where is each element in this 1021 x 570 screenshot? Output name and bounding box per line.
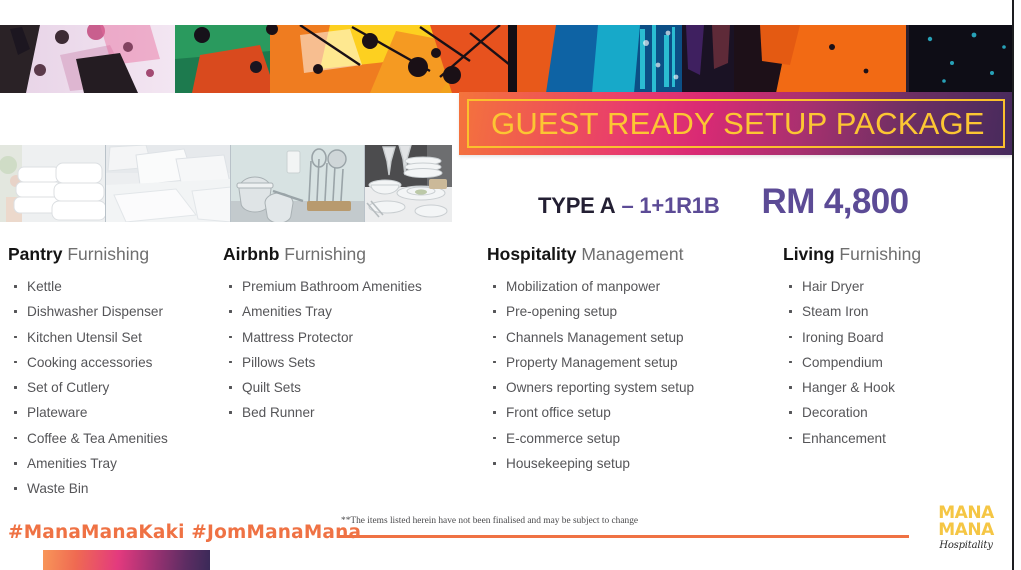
list-item: Owners reporting system setup [487,375,779,400]
package-title-text: GUEST READY SETUP PACKAGE [469,106,985,142]
list-item: Channels Management setup [487,325,779,350]
unit-type-code: – 1+1R1B [621,193,719,219]
list-item: Pre-opening setup [487,299,779,324]
column-pantry-furnishing: Pantry Furnishing Kettle Dishwasher Disp… [8,243,223,502]
list-item: Mattress Protector [223,325,485,350]
column-hospitality-management: Hospitality Management Mobilization of m… [487,243,779,476]
logo-tagline: Hospitality [925,540,1007,551]
list-item: Front office setup [487,400,779,425]
column-heading-light: Furnishing [839,244,921,264]
list-item: Bed Runner [223,400,485,425]
list-item: Dishwasher Dispenser [8,299,223,324]
column-heading: Living Furnishing [783,243,1013,265]
list-item: Hair Dryer [783,274,1013,299]
list-item: Set of Cutlery [8,375,223,400]
photo-towels [0,145,106,222]
right-margin-fill [1014,0,1021,570]
column-airbnb-furnishing: Airbnb Furnishing Premium Bathroom Ameni… [223,243,485,426]
logo-line-2: MANA [925,522,1007,539]
column-heading: Airbnb Furnishing [223,243,485,265]
column-living-furnishing: Living Furnishing Hair Dryer Steam Iron … [783,243,1013,451]
list-item: Premium Bathroom Amenities [223,274,485,299]
brand-gradient-bar [43,550,210,570]
list-item: Property Management setup [487,350,779,375]
package-title-frame: GUEST READY SETUP PACKAGE [467,99,1005,148]
list-item: E-commerce setup [487,426,779,451]
list-item: Kitchen Utensil Set [8,325,223,350]
photo-plateware [365,145,452,222]
column-heading: Pantry Furnishing [8,243,223,265]
photo-kitchen-utensils [231,145,364,222]
column-heading-light: Furnishing [67,244,149,264]
column-heading: Hospitality Management [487,243,779,265]
feature-list-pantry: Kettle Dishwasher Dispenser Kitchen Uten… [8,274,223,502]
list-item: Compendium [783,350,1013,375]
list-item: Pillows Sets [223,350,485,375]
column-heading-bold: Living [783,244,835,264]
list-item: Waste Bin [8,476,223,501]
social-hashtags: #ManaManaKaki #JomManaMana [8,522,361,543]
feature-columns: Pantry Furnishing Kettle Dishwasher Disp… [0,243,1013,505]
slide-canvas: GUEST READY SETUP PACKAGE TYPE A – 1+1R1… [0,0,1021,570]
column-heading-bold: Pantry [8,244,62,264]
list-item: Steam Iron [783,299,1013,324]
manamana-logo: MANA MANA Hospitality [925,505,1007,561]
footer-divider-rule [337,535,909,538]
photo-bedding [106,145,231,222]
list-item: Mobilization of manpower [487,274,779,299]
feature-list-airbnb: Premium Bathroom Amenities Amenities Tra… [223,274,485,426]
list-item: Housekeeping setup [487,451,779,476]
list-item: Quilt Sets [223,375,485,400]
unit-type-label: TYPE A [538,193,615,219]
list-item: Ironing Board [783,325,1013,350]
right-edge-rule [1012,0,1014,570]
abstract-art-banner [0,25,1013,93]
feature-list-living: Hair Dryer Steam Iron Ironing Board Comp… [783,274,1013,451]
list-item: Hanger & Hook [783,375,1013,400]
column-heading-bold: Hospitality [487,244,576,264]
package-title-banner: GUEST READY SETUP PACKAGE [459,92,1013,155]
feature-list-hospitality: Mobilization of manpower Pre-opening set… [487,274,779,476]
list-item: Enhancement [783,426,1013,451]
list-item: Amenities Tray [8,451,223,476]
column-heading-light: Management [581,244,683,264]
list-item: Cooking accessories [8,350,223,375]
product-photo-strip [0,145,452,222]
list-item: Plateware [8,400,223,425]
disclaimer-text: **The items listed herein have not been … [341,516,901,526]
column-heading-bold: Airbnb [223,244,279,264]
price-row: TYPE A – 1+1R1B RM 4,800 [538,182,1008,228]
list-item: Kettle [8,274,223,299]
package-price: RM 4,800 [762,182,909,222]
column-heading-light: Furnishing [284,244,366,264]
list-item: Coffee & Tea Amenities [8,426,223,451]
list-item: Amenities Tray [223,299,485,324]
list-item: Decoration [783,400,1013,425]
